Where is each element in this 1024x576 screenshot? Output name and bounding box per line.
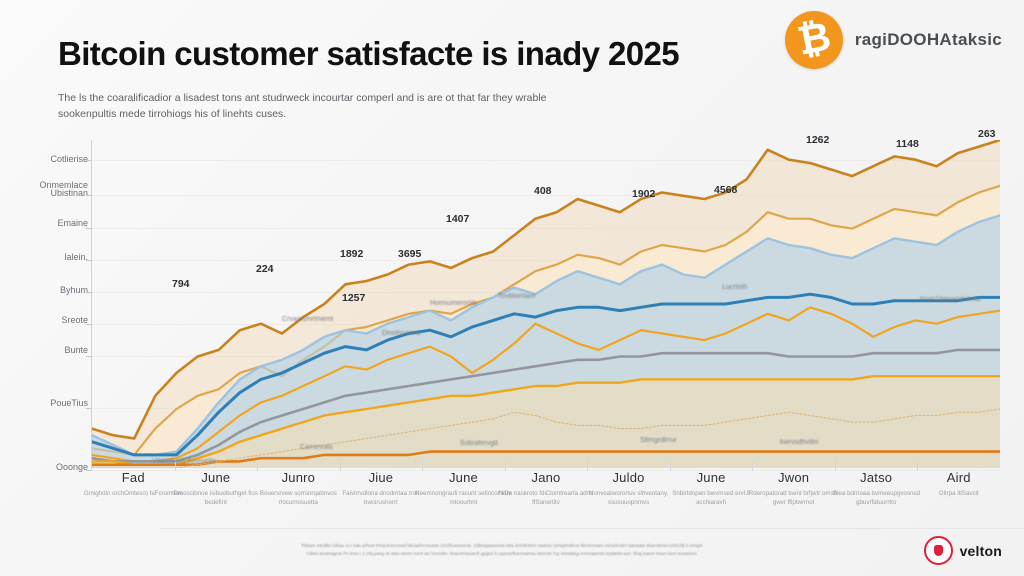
footnote-line-2: Ciliws anotivagrus Pv lmvo i 1.crtij-pan… xyxy=(182,550,822,558)
data-label: 224 xyxy=(256,263,274,275)
inline-annotation: brvm1beswodnhvta xyxy=(920,296,981,303)
data-label: 1262 xyxy=(806,134,829,146)
infographic-page: Bitcoin customer satisfacte is inady 202… xyxy=(0,0,1024,576)
x-tick xyxy=(175,462,176,471)
inline-annotation: Ssbrafervgd xyxy=(460,440,498,447)
x-tick xyxy=(505,462,506,471)
velton-logo: velton xyxy=(924,536,1002,565)
y-tick xyxy=(86,195,91,196)
y-tick xyxy=(86,160,91,161)
inline-annotation: Hormumeromb xyxy=(430,300,477,307)
data-label: 1902 xyxy=(632,188,655,200)
x-tick xyxy=(835,462,836,471)
y-axis-label: Ubistinan xyxy=(50,188,88,198)
footer-divider xyxy=(160,528,1024,529)
brand-lockup: ₿ ragiDOOHAtaksic xyxy=(785,8,1002,72)
x-axis: FadGmighdin orchOmteso) faFcromtemJuneDm… xyxy=(0,470,1024,530)
data-label: 794 xyxy=(172,278,190,290)
x-tick xyxy=(257,462,258,471)
footer: Platam mindfet Gibaa cu.l sale prhew tri… xyxy=(0,528,1024,576)
header: Bitcoin customer satisfacte is inady 202… xyxy=(0,0,1024,132)
velton-wordmark: velton xyxy=(960,543,1002,559)
y-tick xyxy=(86,292,91,293)
inline-annotation: Lucrtoth xyxy=(722,284,747,291)
brand-name: ragiDOOHAtaksic xyxy=(855,30,1002,50)
inline-annotation: Sltmgrdlrrur xyxy=(640,437,677,444)
x-axis-group: AirdOitrpa ltlSavcit xyxy=(907,470,1011,499)
velton-icon xyxy=(924,536,953,565)
subtitle-line-1: The ls the coaralificadior a lisadest to… xyxy=(58,90,738,106)
y-tick xyxy=(86,408,91,409)
x-axis-label: Aird xyxy=(907,470,1011,485)
inline-annotation: Tovblomlare xyxy=(498,293,536,300)
bitcoin-glyph: ₿ xyxy=(794,16,834,61)
data-label: 1892 xyxy=(340,248,363,260)
y-tick xyxy=(86,356,91,357)
x-tick xyxy=(917,462,918,471)
x-tick xyxy=(670,462,671,471)
x-tick xyxy=(340,462,341,471)
y-axis-label: lalein. xyxy=(64,252,88,262)
data-label: 1148 xyxy=(896,138,919,150)
y-tick xyxy=(86,324,91,325)
subtitle-line-2: sookenpultis mede tirrohiogs his of line… xyxy=(58,106,738,122)
data-label: 4568 xyxy=(714,184,737,196)
x-tick xyxy=(752,462,753,471)
y-axis-label: PoueTius xyxy=(50,398,88,408)
data-label: 408 xyxy=(534,185,552,197)
y-axis-label: Emaine xyxy=(57,218,88,228)
inline-annotation: Vtlaretl.rvq Avvroelte xyxy=(152,458,216,465)
page-title: Bitcoin customer satisfacte is inady 202… xyxy=(58,36,738,72)
data-label: 263 xyxy=(978,128,996,140)
y-axis-label: Cotlierise xyxy=(50,154,88,164)
data-label: 1257 xyxy=(342,292,365,304)
x-tick xyxy=(587,462,588,471)
footnote-line-1: Platam mindfet Gibaa cu.l sale prhew tri… xyxy=(182,542,822,550)
y-axis-label: Bunte xyxy=(64,345,88,355)
y-axis-label: Sreote xyxy=(61,315,88,325)
data-label: 3695 xyxy=(398,248,421,260)
x-axis-sublabel: Oitrpa ltlSavcit xyxy=(907,490,1011,499)
x-tick xyxy=(422,462,423,471)
y-tick xyxy=(86,228,91,229)
inline-annotation: Dmohnarrnb xyxy=(382,330,421,337)
footnote: Platam mindfet Gibaa cu.l sale prhew tri… xyxy=(182,542,822,559)
data-label: 1407 xyxy=(446,213,469,225)
chart-container: CotlieriseOnmemlaceUbistinanEmainelalein… xyxy=(0,126,1024,526)
y-axis-labels: CotlieriseOnmemlaceUbistinanEmainelalein… xyxy=(18,140,88,468)
bitcoin-icon: ₿ xyxy=(785,11,843,69)
inline-annotation: kwrvsdhvtlm xyxy=(780,439,819,446)
y-tick xyxy=(86,260,91,261)
inline-annotation: Carrenrals xyxy=(300,444,333,451)
page-subtitle: The ls the coaralificadior a lisadest to… xyxy=(58,90,738,123)
inline-annotation: Crvaalsmrtmemt xyxy=(282,316,333,323)
y-axis-label: Byhum xyxy=(60,285,88,295)
